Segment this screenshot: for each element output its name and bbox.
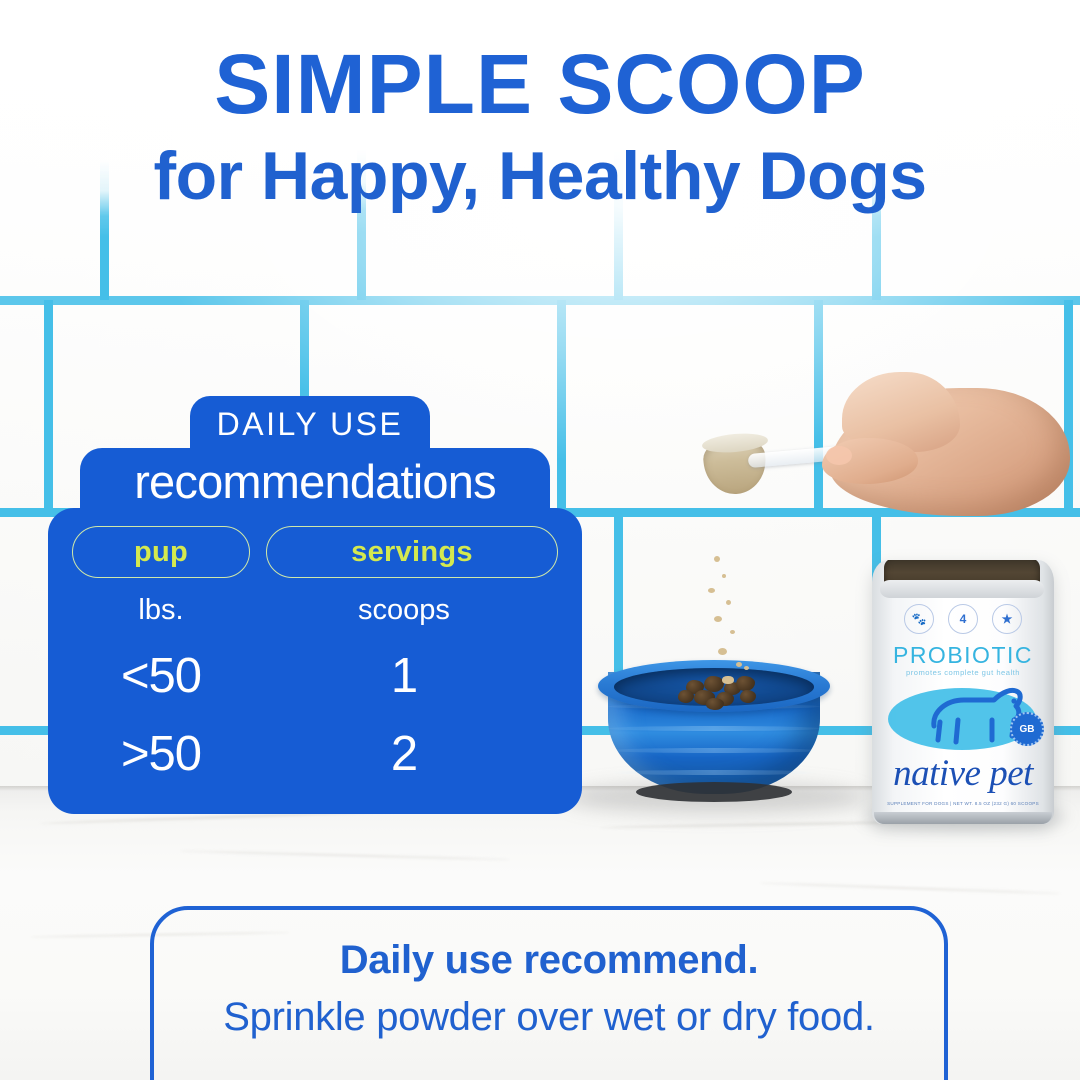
callout-line-1: Daily use recommend. bbox=[150, 938, 948, 983]
card-title: recommendations bbox=[80, 454, 550, 509]
product-tin: 🐾 4 ★ PROBIOTIC promotes complete gut he… bbox=[872, 560, 1054, 824]
paw-icon: 🐾 bbox=[904, 604, 934, 634]
pill-pup: pup bbox=[72, 526, 250, 578]
cell-scoops: 1 bbox=[250, 648, 558, 704]
badge-number: 4 bbox=[948, 604, 978, 634]
card-eyebrow: DAILY USE bbox=[190, 406, 430, 443]
tin-brand: native pet bbox=[872, 752, 1054, 795]
table-row: >50 2 bbox=[72, 726, 558, 782]
table-row: <50 1 bbox=[72, 648, 558, 704]
page-subtitle: for Happy, Healthy Dogs bbox=[0, 142, 1080, 210]
headline-block: SIMPLE SCOOP for Happy, Healthy Dogs bbox=[0, 42, 1080, 210]
unit-scoops: scoops bbox=[250, 594, 558, 627]
table-header-pills: pup servings bbox=[72, 526, 558, 578]
callout-text: Daily use recommend. Sprinkle powder ove… bbox=[150, 938, 948, 1040]
unit-lbs: lbs. bbox=[72, 594, 250, 627]
cell-scoops: 2 bbox=[250, 726, 558, 782]
dog-bowl bbox=[594, 646, 834, 806]
tin-fine-print: SUPPLEMENT FOR DOGS | NET WT. 8.5 OZ (23… bbox=[872, 801, 1054, 806]
dosing-table: <50 1 >50 2 bbox=[72, 648, 558, 804]
daily-use-card: DAILY USE recommendations pup servings l… bbox=[48, 396, 582, 814]
seal-icon: ★ bbox=[992, 604, 1022, 634]
certification-badges: 🐾 4 ★ bbox=[872, 604, 1054, 634]
callout-line-2: Sprinkle powder over wet or dry food. bbox=[150, 995, 948, 1040]
page-title: SIMPLE SCOOP bbox=[0, 42, 1080, 126]
tin-seal-badge: GB bbox=[1010, 712, 1044, 746]
tin-title: PROBIOTIC bbox=[872, 642, 1054, 669]
hand-with-scoop bbox=[790, 366, 1080, 556]
cell-weight: <50 bbox=[72, 648, 250, 704]
promo-graphic: 🐾 4 ★ PROBIOTIC promotes complete gut he… bbox=[0, 0, 1080, 1080]
pill-servings: servings bbox=[266, 526, 558, 578]
table-unit-row: lbs. scoops bbox=[72, 594, 558, 627]
cell-weight: >50 bbox=[72, 726, 250, 782]
